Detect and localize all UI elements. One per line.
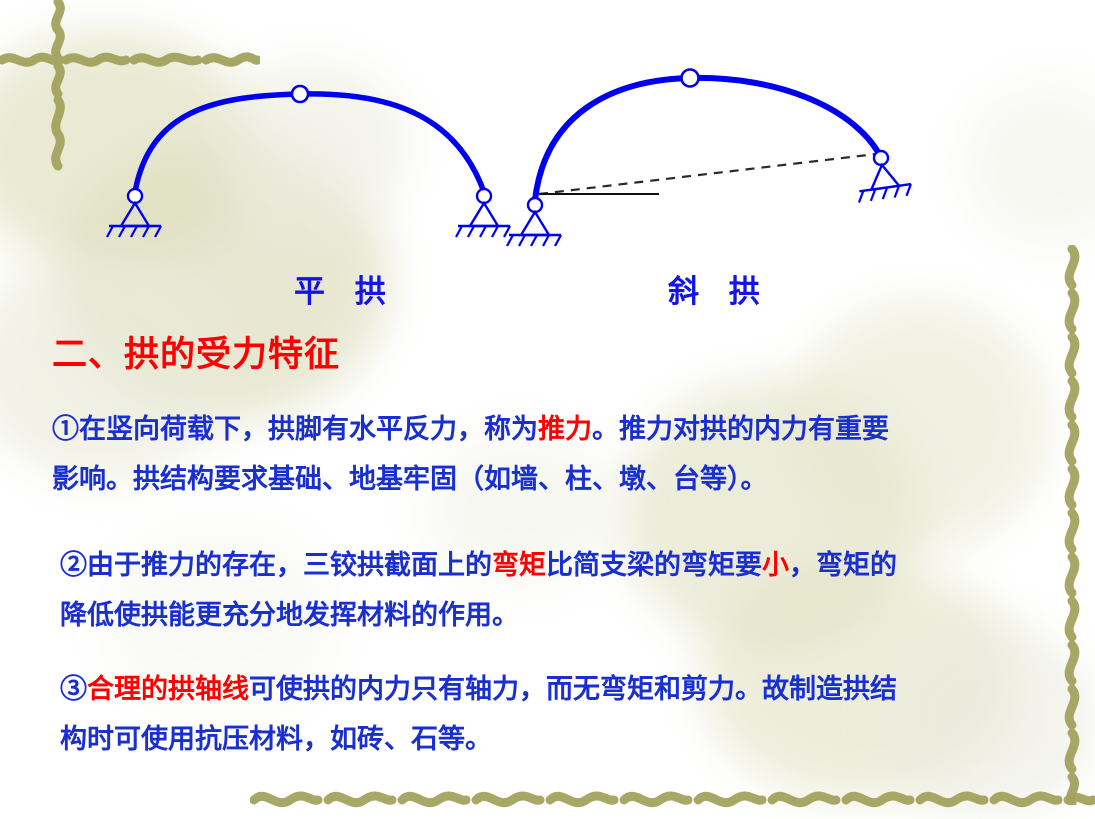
text-run: 比简支梁的弯矩要 <box>546 550 762 580</box>
section-heading: 二、拱的受力特征 <box>52 326 340 377</box>
flat-arch-curve <box>135 94 484 192</box>
paragraph-line: ②由于推力的存在，三铰拱截面上的弯矩比简支梁的弯矩要小，弯矩的 <box>60 550 897 580</box>
paragraph-line: ①在竖向荷载下，拱脚有水平反力，称为推力。推力对拱的内力有重要 <box>52 414 889 444</box>
paragraph-3: ③合理的拱轴线可使拱的内力只有轴力，而无弯矩和剪力。故制造拱结构时可使用抗压材料… <box>60 664 897 764</box>
paragraph-1: ①在竖向荷载下，拱脚有水平反力，称为推力。推力对拱的内力有重要影响。拱结构要求基… <box>52 404 889 504</box>
caption-flat-arch: 平 拱 <box>294 266 397 311</box>
inclined-arch-chord-dashed <box>539 154 876 194</box>
flat-arch-group <box>107 86 510 237</box>
highlighted-term: 弯矩 <box>492 550 546 580</box>
text-run: 影响。拱结构要求基础、地基牢固（如墙、柱、墩、台等）。 <box>52 464 768 494</box>
text-run: 。推力对拱的内力有重要 <box>592 414 889 444</box>
highlighted-term: 小 <box>762 550 789 580</box>
paragraph-line: 影响。拱结构要求基础、地基牢固（如墙、柱、墩、台等）。 <box>52 454 889 504</box>
paragraph-line: 构时可使用抗压材料，如砖、石等。 <box>60 714 897 764</box>
text-run: ③ <box>60 674 87 704</box>
text-run: ，弯矩的 <box>789 550 897 580</box>
paragraph-line: ③合理的拱轴线可使拱的内力只有轴力，而无弯矩和剪力。故制造拱结 <box>60 674 897 704</box>
inclined-arch-curve <box>535 78 878 200</box>
inclined-arch-group <box>507 70 912 247</box>
flat-arch-crown-hinge <box>292 86 308 102</box>
highlighted-term: 推力 <box>538 414 592 444</box>
flat-arch-left-support <box>107 189 161 237</box>
inclined-arch-crown-hinge <box>682 70 699 87</box>
watercolor-blob <box>880 620 1095 819</box>
paragraph-2: ②由于推力的存在，三铰拱截面上的弯矩比简支梁的弯矩要小，弯矩的降低使拱能更充分地… <box>60 540 897 640</box>
vine-decoration-bottom <box>250 778 1095 818</box>
caption-inclined-arch: 斜 拱 <box>668 266 771 311</box>
text-run: 降低使拱能更充分地发挥材料的作用。 <box>60 600 519 630</box>
inclined-arch-left-support <box>507 198 561 246</box>
text-run: 可使拱的内力只有轴力，而无弯矩和剪力。故制造拱结 <box>249 674 897 704</box>
text-run: ①在竖向荷载下，拱脚有水平反力，称为 <box>52 414 538 444</box>
highlighted-term: 合理的拱轴线 <box>87 674 249 704</box>
text-run: ②由于推力的存在，三铰拱截面上的 <box>60 550 492 580</box>
slide-canvas: 平 拱 斜 拱 二、拱的受力特征 ①在竖向荷载下，拱脚有水平反力，称为推力。推力… <box>0 0 1095 819</box>
text-run: 构时可使用抗压材料，如砖、石等。 <box>60 724 492 754</box>
arch-diagram <box>0 0 1095 330</box>
flat-arch-right-support <box>456 189 510 237</box>
paragraph-line: 降低使拱能更充分地发挥材料的作用。 <box>60 590 897 640</box>
